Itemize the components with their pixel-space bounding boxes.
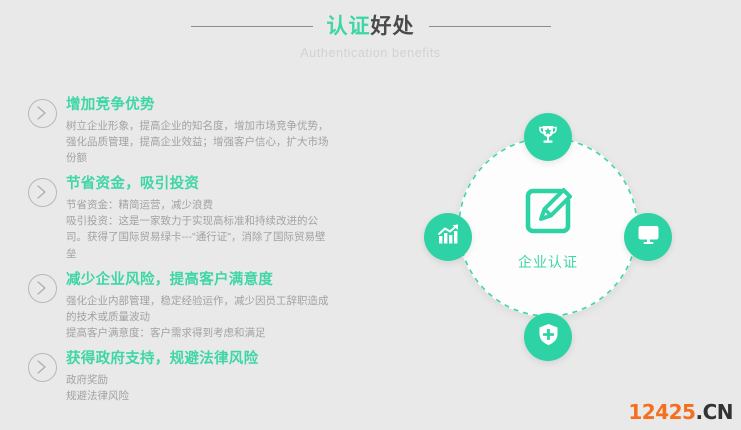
benefit-desc-line: 节省资金：精简运营，减少浪费 bbox=[66, 197, 346, 213]
page-header: 认证好处 Authentication benefits bbox=[0, 14, 741, 60]
diagram-center-label: 企业认证 bbox=[518, 252, 578, 272]
diagram-center: 企业认证 bbox=[458, 137, 638, 317]
benefit-desc-line: 份额 bbox=[66, 150, 346, 166]
benefit-item: 节省资金，吸引投资 节省资金：精简运营，减少浪费 吸引投资：这是一家致力于实现高… bbox=[28, 175, 346, 262]
certification-diagram: 企业认证 bbox=[408, 113, 688, 388]
page-title: 认证好处 bbox=[327, 14, 415, 39]
benefit-body: 获得政府支持，规避法律风险 政府奖励 规避法律风险 bbox=[66, 350, 346, 404]
benefit-desc-line: 吸引投资：这是一家致力于实现高标准和持续改进的公 bbox=[66, 213, 346, 229]
diagram-node-right[interactable] bbox=[624, 213, 672, 261]
benefit-item: 增加竞争优势 树立企业形象，提高企业的知名度，增加市场竞争优势， 强化品质管理，… bbox=[28, 96, 346, 166]
benefit-description: 节省资金：精简运营，减少浪费 吸引投资：这是一家致力于实现高标准和持续改进的公 … bbox=[66, 197, 346, 262]
benefits-list: 增加竞争优势 树立企业形象，提高企业的知名度，增加市场竞争优势， 强化品质管理，… bbox=[28, 96, 346, 413]
diagram-node-bottom[interactable] bbox=[524, 313, 572, 361]
page-subtitle: Authentication benefits bbox=[0, 46, 741, 60]
benefit-desc-line: 司。获得了国际贸易绿卡---"通行证"，消除了国际贸易壁 bbox=[66, 229, 346, 245]
benefit-item: 获得政府支持，规避法律风险 政府奖励 规避法律风险 bbox=[28, 350, 346, 404]
benefit-desc-line: 规避法律风险 bbox=[66, 388, 346, 404]
benefit-desc-line: 树立企业形象，提高企业的知名度，增加市场竞争优势， bbox=[66, 118, 346, 134]
watermark-tld: .CN bbox=[695, 400, 733, 424]
chevron-right-icon bbox=[28, 178, 57, 207]
title-rule-right bbox=[429, 26, 551, 27]
benefit-body: 减少企业风险，提高客户满意度 强化企业内部管理，稳定经验运作，减少因员工辞职造成… bbox=[66, 271, 346, 341]
watermark: 12425.CN bbox=[628, 400, 733, 424]
benefit-desc-line: 的技术或质量波动 bbox=[66, 309, 346, 325]
benefit-title: 减少企业风险，提高客户满意度 bbox=[66, 271, 346, 291]
benefit-title: 节省资金，吸引投资 bbox=[66, 175, 346, 195]
diagram-node-left[interactable] bbox=[424, 213, 472, 261]
benefit-body: 节省资金，吸引投资 节省资金：精简运营，减少浪费 吸引投资：这是一家致力于实现高… bbox=[66, 175, 346, 262]
trophy-icon bbox=[536, 123, 560, 152]
benefit-description: 政府奖励 规避法律风险 bbox=[66, 372, 346, 405]
benefit-desc-line: 垒 bbox=[66, 246, 346, 262]
watermark-number: 12425 bbox=[628, 400, 695, 424]
benefit-desc-line: 强化企业内部管理，稳定经验运作，减少因员工辞职造成 bbox=[66, 293, 346, 309]
benefit-desc-line: 政府奖励 bbox=[66, 372, 346, 388]
benefit-desc-line: 提高客户满意度：客户需求得到考虑和满足 bbox=[66, 325, 346, 341]
edit-pencil-icon bbox=[520, 183, 576, 244]
chevron-right-icon bbox=[28, 274, 57, 303]
shield-plus-icon bbox=[536, 322, 561, 352]
monitor-icon bbox=[636, 222, 661, 252]
benefit-desc-line: 强化品质管理，提高企业效益；增强客户信心，扩大市场 bbox=[66, 134, 346, 150]
page-title-rest: 好处 bbox=[371, 15, 415, 38]
title-row: 认证好处 bbox=[0, 14, 741, 39]
page-title-accent: 认证 bbox=[327, 15, 371, 38]
bar-chart-growth-icon bbox=[436, 222, 461, 252]
chevron-right-icon bbox=[28, 353, 57, 382]
benefit-title: 获得政府支持，规避法律风险 bbox=[66, 350, 346, 370]
diagram-node-top[interactable] bbox=[524, 113, 572, 161]
benefit-description: 树立企业形象，提高企业的知名度，增加市场竞争优势， 强化品质管理，提高企业效益；… bbox=[66, 118, 346, 167]
chevron-right-icon bbox=[28, 99, 57, 128]
title-rule-left bbox=[191, 26, 313, 27]
benefit-title: 增加竞争优势 bbox=[66, 96, 346, 116]
benefit-body: 增加竞争优势 树立企业形象，提高企业的知名度，增加市场竞争优势， 强化品质管理，… bbox=[66, 96, 346, 166]
benefit-item: 减少企业风险，提高客户满意度 强化企业内部管理，稳定经验运作，减少因员工辞职造成… bbox=[28, 271, 346, 341]
benefit-description: 强化企业内部管理，稳定经验运作，减少因员工辞职造成 的技术或质量波动 提高客户满… bbox=[66, 293, 346, 342]
